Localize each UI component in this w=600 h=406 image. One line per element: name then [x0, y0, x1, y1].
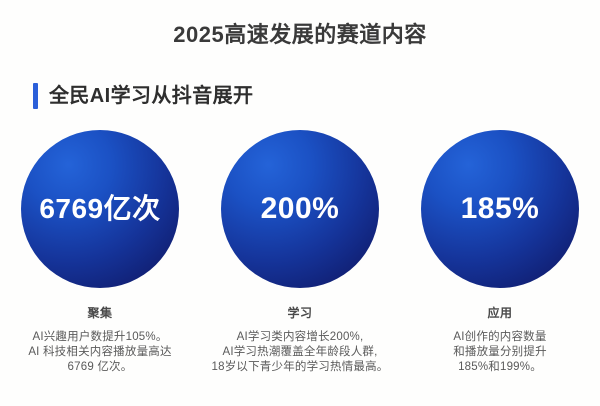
- stat-label-2: 学习: [287, 304, 312, 321]
- stat-value-3: 185%: [461, 194, 540, 224]
- stat-bubble-3: 185%: [421, 130, 579, 288]
- stat-label-3: 应用: [487, 304, 512, 321]
- stat-card-3: 185% 应用 AI创作的内容数量 和播放量分别提升 185%和199%。: [400, 130, 600, 375]
- stat-value-1: 6769亿次: [39, 195, 160, 223]
- page-title: 2025高速发展的赛道内容: [0, 17, 600, 49]
- stat-description-3: AI创作的内容数量 和播放量分别提升 185%和199%。: [453, 330, 547, 375]
- stats-row: 6769亿次 聚集 AI兴趣用户数提升105%。 AI 科技相关内容播放量高达 …: [0, 130, 600, 375]
- stat-description-2: AI学习类内容增长200%, AI学习热潮覆盖全年龄段人群, 18岁以下青少年的…: [212, 330, 389, 375]
- accent-bar-icon: [33, 83, 38, 109]
- stat-bubble-2: 200%: [221, 130, 379, 288]
- subtitle-row: 全民AI学习从抖音展开: [33, 83, 253, 109]
- stat-bubble-1: 6769亿次: [21, 130, 179, 288]
- subtitle-text: 全民AI学习从抖音展开: [49, 86, 253, 106]
- stat-description-1: AI兴趣用户数提升105%。 AI 科技相关内容播放量高达 6769 亿次。: [28, 330, 171, 375]
- stat-label-1: 聚集: [87, 304, 112, 321]
- stat-card-2: 200% 学习 AI学习类内容增长200%, AI学习热潮覆盖全年龄段人群, 1…: [200, 130, 400, 375]
- stat-card-1: 6769亿次 聚集 AI兴趣用户数提升105%。 AI 科技相关内容播放量高达 …: [0, 130, 200, 375]
- stat-value-2: 200%: [261, 194, 340, 224]
